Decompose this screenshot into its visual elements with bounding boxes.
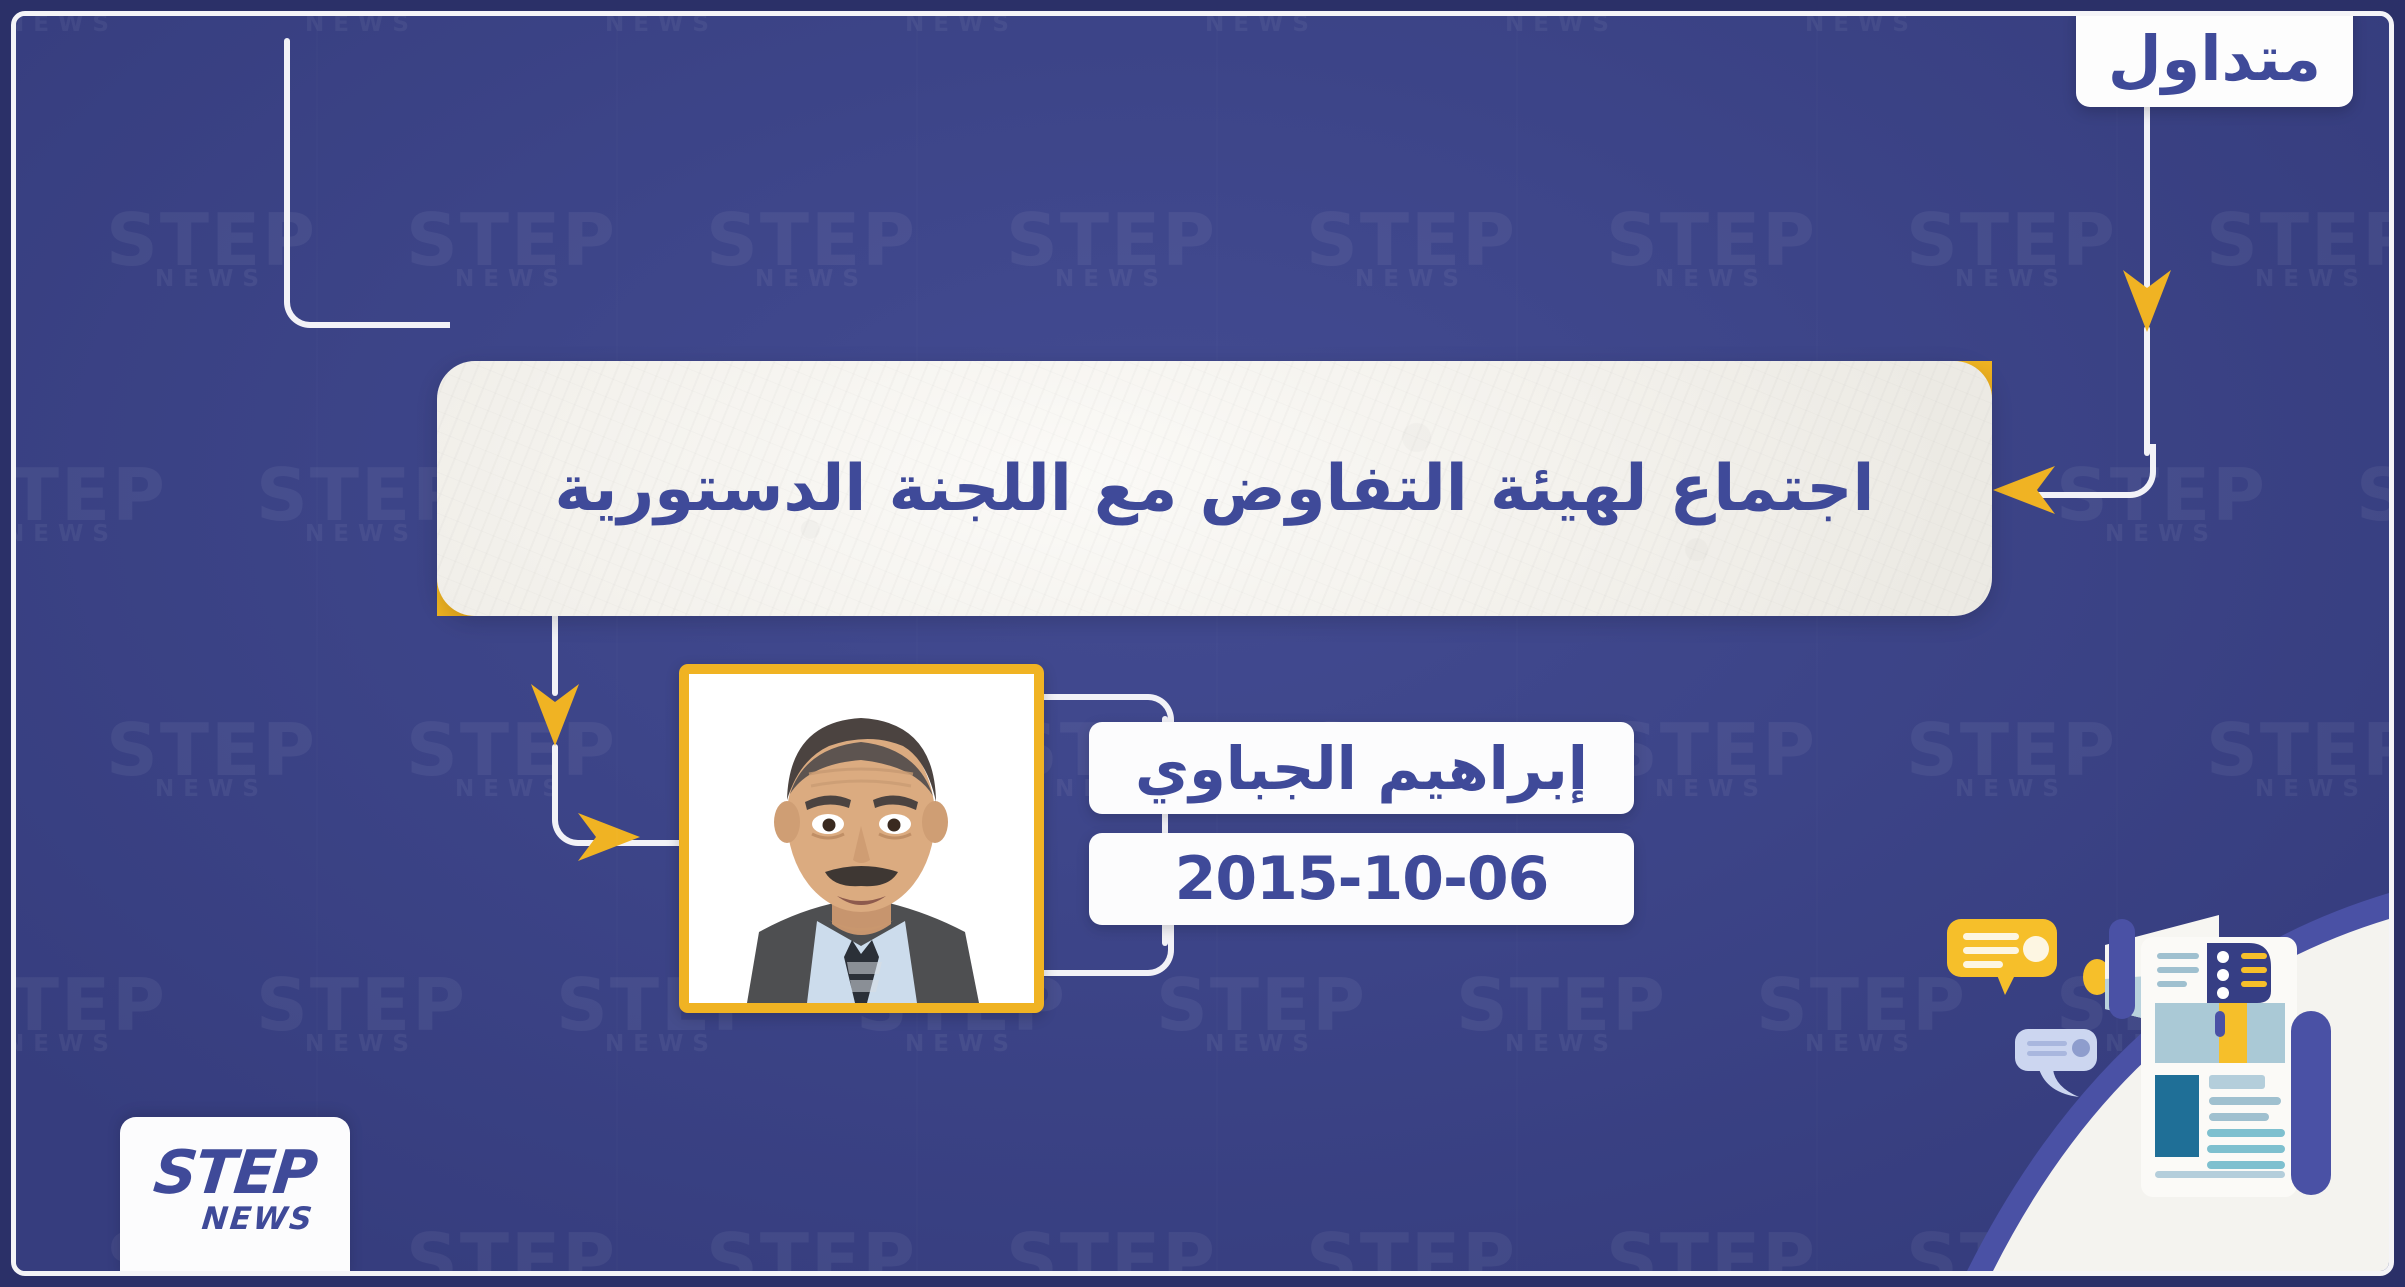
portrait-frame bbox=[679, 664, 1044, 1013]
brand-logo[interactable]: STEP NEWS bbox=[120, 1117, 350, 1271]
watermark-tile: STEPNEWS bbox=[1306, 211, 1517, 289]
person-date-text: 2015-10-06 bbox=[1175, 849, 1549, 909]
watermark-tile: STEPNEWS bbox=[556, 16, 767, 34]
watermark-tile: STEPNEWS bbox=[1906, 211, 2117, 289]
watermark-tile: STEPNEWS bbox=[1306, 1231, 1517, 1271]
avatar bbox=[689, 674, 1034, 1003]
chat-bubble-icon bbox=[1947, 919, 2057, 995]
watermark-tile: STEPNEWS bbox=[256, 976, 467, 1054]
connector-line-badge-down bbox=[2144, 98, 2150, 288]
watermark-tile: STEPNEWS bbox=[2356, 466, 2389, 544]
watermark-tile: STEPNEWS bbox=[1756, 16, 1967, 34]
watermark-tile: STEPNEWS bbox=[1606, 1231, 1817, 1271]
watermark-tile: STEPNEWS bbox=[1456, 16, 1667, 34]
trending-badge[interactable]: متداول bbox=[2076, 16, 2353, 107]
watermark-tile: STEPNEWS bbox=[2356, 16, 2389, 34]
watermark-tile: STEPNEWS bbox=[16, 976, 167, 1054]
trending-badge-label: متداول bbox=[2108, 26, 2321, 91]
watermark-tile: STEPNEWS bbox=[406, 721, 617, 799]
connector-line-top-left bbox=[284, 38, 290, 288]
watermark-tile: STEPNEWS bbox=[1006, 211, 1217, 289]
watermark-tile: STEPNEWS bbox=[256, 466, 467, 544]
watermark-tile: STEPNEWS bbox=[406, 1231, 617, 1271]
page-title: اجتماع لهيئة التفاوض مع اللجنة الدستورية bbox=[507, 449, 1923, 529]
watermark-tile: STEPNEWS bbox=[16, 16, 167, 34]
headline-card: اجتماع لهيئة التفاوض مع اللجنة الدستورية bbox=[437, 361, 1992, 616]
arrow-right-icon bbox=[576, 811, 642, 863]
person-date-badge: 2015-10-06 bbox=[1089, 833, 1634, 925]
arrow-down-icon bbox=[2121, 268, 2173, 334]
watermark-tile: STEPNEWS bbox=[106, 721, 317, 799]
person-name-text: إبراهيم الجباوي bbox=[1135, 739, 1588, 798]
watermark-tile: STEPNEWS bbox=[256, 16, 467, 34]
connector-line-badge-down-2 bbox=[2144, 326, 2150, 456]
watermark-tile: STEPNEWS bbox=[706, 211, 917, 289]
connector-elbow-left bbox=[284, 274, 450, 328]
watermark-tile: STEPNEWS bbox=[856, 16, 1067, 34]
watermark-tile: STEPNEWS bbox=[1006, 1231, 1217, 1271]
watermark-tile: STEPNEWS bbox=[706, 1231, 917, 1271]
watermark-tile: STEPNEWS bbox=[2206, 721, 2389, 799]
chat-bubble-icon-2 bbox=[2015, 1029, 2097, 1097]
inner-frame-border: STEPNEWSSTEPNEWSSTEPNEWSSTEPNEWSSTEPNEWS… bbox=[11, 11, 2394, 1276]
watermark-tile: STEPNEWS bbox=[1456, 976, 1667, 1054]
watermark-tile: STEPNEWS bbox=[1156, 976, 1367, 1054]
infographic-canvas: STEPNEWSSTEPNEWSSTEPNEWSSTEPNEWSSTEPNEWS… bbox=[0, 0, 2405, 1287]
arrow-left-icon bbox=[1991, 464, 2057, 516]
person-name-badge: إبراهيم الجباوي bbox=[1089, 722, 1634, 814]
headline-card-wrapper: اجتماع لهيئة التفاوض مع اللجنة الدستورية bbox=[437, 361, 1992, 616]
brand-logo-step: STEP bbox=[151, 1145, 318, 1202]
arrow-down-icon-2 bbox=[529, 682, 581, 748]
news-illustration bbox=[1919, 871, 2389, 1271]
watermark-tile: STEPNEWS bbox=[1906, 721, 2117, 799]
watermark-tile: STEPNEWS bbox=[2206, 211, 2389, 289]
watermark-tile: STEPNEWS bbox=[1606, 721, 1817, 799]
watermark-tile: STEPNEWS bbox=[1606, 211, 1817, 289]
watermark-tile: STEPNEWS bbox=[16, 466, 167, 544]
brand-logo-news: NEWS bbox=[201, 1204, 316, 1235]
background-canvas: STEPNEWSSTEPNEWSSTEPNEWSSTEPNEWSSTEPNEWS… bbox=[16, 16, 2389, 1271]
watermark-tile: STEPNEWS bbox=[1156, 16, 1367, 34]
